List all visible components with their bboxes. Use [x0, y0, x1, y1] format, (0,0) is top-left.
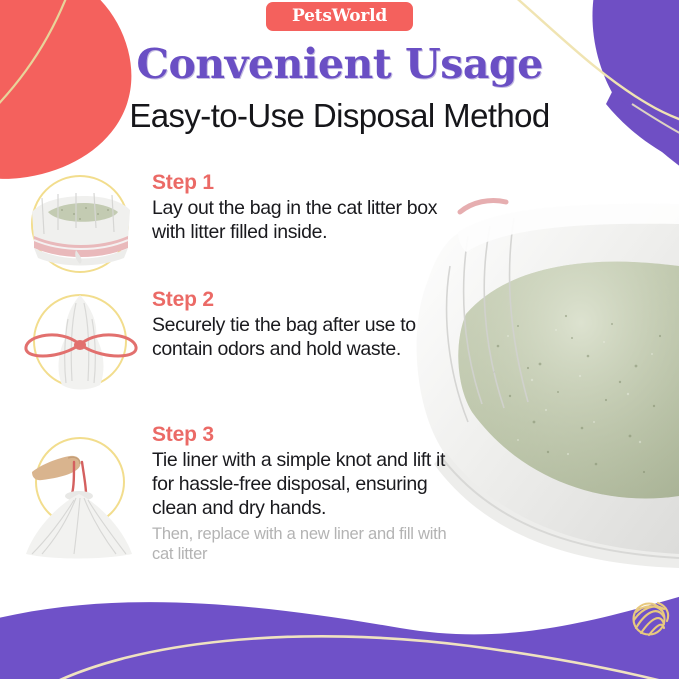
- yarn-ball-icon: [634, 603, 669, 635]
- step-3-text: Tie liner with a simple knot and lift it…: [152, 448, 452, 521]
- step-1-label: Step 1: [152, 172, 452, 194]
- top-left-coral-blob: [0, 0, 131, 179]
- pink-drawstring: [460, 200, 506, 212]
- step-3-note: Then, replace with a new liner and fill …: [152, 524, 452, 564]
- product-infographic: PetsWorld Convenient Usage Easy-to-Use D…: [0, 0, 679, 679]
- bottom-gold-arc: [40, 636, 679, 679]
- brand-logo: PetsWorld: [266, 2, 413, 31]
- bottom-purple-wave: [0, 594, 679, 679]
- step-item-1: Step 1 Lay out the bag in the cat litter…: [18, 168, 452, 280]
- step-1-illustration: [18, 168, 142, 280]
- step-2-text: Securely tie the bag after use to contai…: [152, 313, 452, 361]
- step-3-illustration: [18, 420, 142, 560]
- step-2-label: Step 2: [152, 289, 452, 311]
- page-subtitle: Easy-to-Use Disposal Method: [0, 98, 679, 134]
- brand-logo-text: PetsWorld: [292, 8, 387, 25]
- step-item-2: Step 2 Securely tie the bag after use to…: [18, 285, 452, 397]
- page-title: Convenient Usage: [0, 44, 679, 85]
- step-2-illustration: [18, 285, 142, 397]
- step-1-text: Lay out the bag in the cat litter box wi…: [152, 196, 452, 244]
- step-item-3: Step 3 Tie liner with a simple knot and …: [18, 420, 452, 564]
- step-3-label: Step 3: [152, 424, 452, 446]
